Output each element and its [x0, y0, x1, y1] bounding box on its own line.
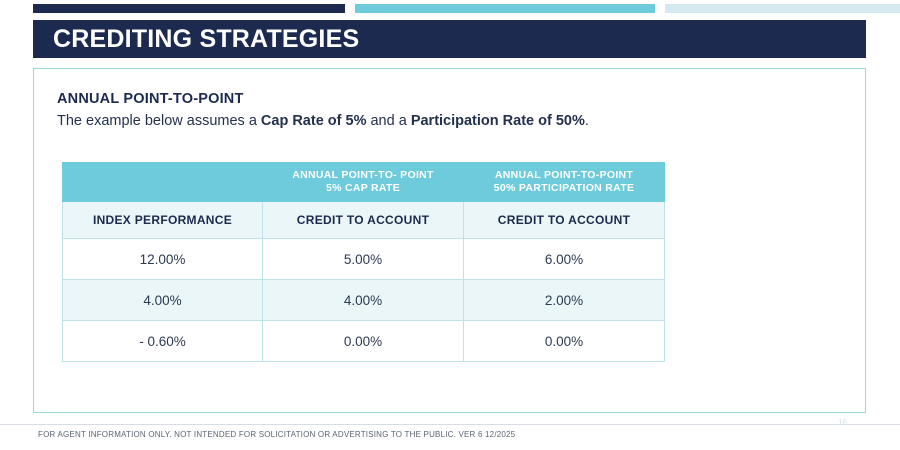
subtitle-text-1: The example below assumes a: [57, 113, 261, 129]
cell-index-performance: 12.00%: [63, 239, 263, 280]
footer-divider: [0, 424, 900, 425]
cell-participation-credit: 6.00%: [464, 239, 665, 280]
footer-disclaimer: FOR AGENT INFORMATION ONLY. NOT INTENDED…: [38, 430, 515, 439]
cell-participation-credit: 0.00%: [464, 321, 665, 362]
table-row: 4.00% 4.00% 2.00%: [63, 280, 665, 321]
slide-title-band: CREDITING STRATEGIES: [33, 20, 866, 58]
accent-bar-teal: [355, 4, 655, 13]
cell-index-performance: 4.00%: [63, 280, 263, 321]
column-header-credit-to-account-cap: CREDIT TO ACCOUNT: [263, 202, 464, 239]
page-title: CREDITING STRATEGIES: [33, 25, 359, 54]
section-heading: ANNUAL POINT-TO-POINT: [57, 91, 244, 107]
accent-bar-pale: [665, 4, 900, 13]
subtitle-text-3: .: [585, 113, 589, 129]
subtitle-text-2: and a: [366, 113, 410, 129]
table-header-top-row: ANNUAL POINT-TO- POINT 5% CAP RATE ANNUA…: [63, 163, 665, 202]
header-cap-rate-line1: ANNUAL POINT-TO- POINT: [292, 169, 434, 181]
header-cap-rate-cell: ANNUAL POINT-TO- POINT 5% CAP RATE: [263, 163, 464, 202]
subtitle-participation-rate: Participation Rate of 50%: [411, 113, 585, 129]
column-header-credit-to-account-participation: CREDIT TO ACCOUNT: [464, 202, 665, 239]
column-header-index-performance: INDEX PERFORMANCE: [63, 202, 263, 239]
cell-cap-rate-credit: 0.00%: [263, 321, 464, 362]
top-accent-bars: [0, 4, 900, 13]
header-participation-line2: 50% PARTICIPATION RATE: [494, 182, 635, 194]
page-number: 16: [838, 418, 847, 427]
content-panel: ANNUAL POINT-TO-POINT The example below …: [33, 68, 866, 413]
table-row: - 0.60% 0.00% 0.00%: [63, 321, 665, 362]
cell-cap-rate-credit: 4.00%: [263, 280, 464, 321]
crediting-strategies-table: ANNUAL POINT-TO- POINT 5% CAP RATE ANNUA…: [62, 162, 665, 362]
accent-bar-navy: [33, 4, 345, 13]
table-header-sub-row: INDEX PERFORMANCE CREDIT TO ACCOUNT CRED…: [63, 202, 665, 239]
header-participation-cell: ANNUAL POINT-TO-POINT 50% PARTICIPATION …: [464, 163, 665, 202]
header-cap-rate-line2: 5% CAP RATE: [326, 182, 400, 194]
cell-participation-credit: 2.00%: [464, 280, 665, 321]
section-subtitle: The example below assumes a Cap Rate of …: [57, 113, 589, 129]
cell-index-performance: - 0.60%: [63, 321, 263, 362]
header-blank-cell: [63, 163, 263, 202]
cell-cap-rate-credit: 5.00%: [263, 239, 464, 280]
subtitle-cap-rate: Cap Rate of 5%: [261, 113, 367, 129]
table-row: 12.00% 5.00% 6.00%: [63, 239, 665, 280]
crediting-table-container: ANNUAL POINT-TO- POINT 5% CAP RATE ANNUA…: [62, 162, 664, 362]
header-participation-line1: ANNUAL POINT-TO-POINT: [495, 169, 633, 181]
